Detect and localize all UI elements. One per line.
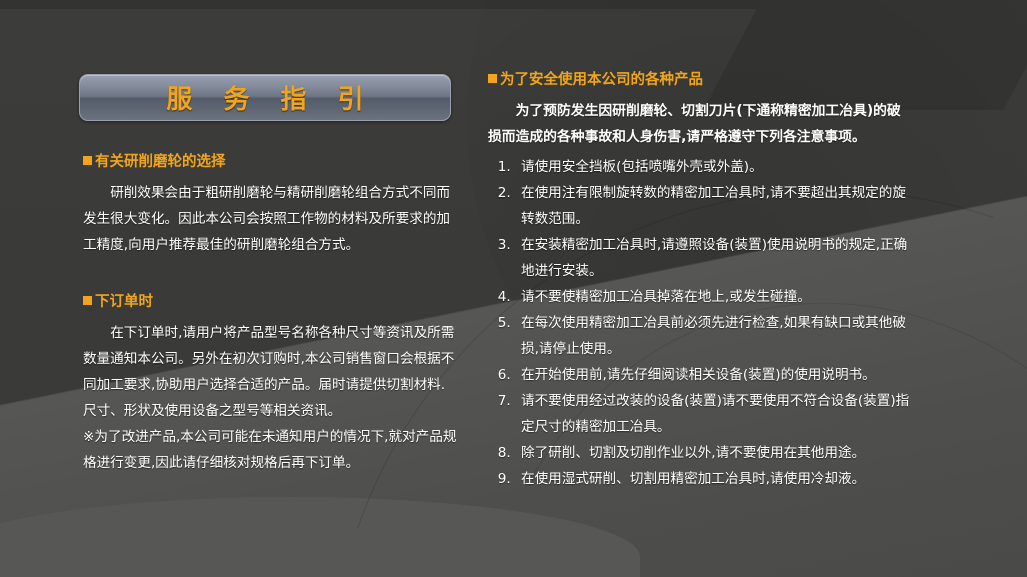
title-plate: 服 务 指 引 [79,74,451,121]
safety-section-heading: 为了安全使用本公司的各种产品 [488,70,913,92]
section-placing-order: 下订单时 在下订单时,请用户将产品型号名称各种尺寸等资讯及所需数量通知本公司。另… [83,292,458,476]
safety-precautions-list: 请使用安全挡板(包括喷嘴外壳或外盖)。 在使用注有限制旋转数的精密加工冶具时,请… [488,154,913,492]
list-item: 在使用湿式研削、切割用精密加工冶具时,请使用冷却液。 [515,466,913,492]
square-bullet-icon [83,296,92,305]
safety-intro-paragraph: 为了预防发生因研削磨轮、切割刀片(下通称精密加工冶具)的破损而造成的各种事故和人… [488,98,913,150]
list-item: 请不要使用经过改装的设备(装置)请不要使用不符合设备(装置)指定尺寸的精密加工冶… [515,388,913,440]
section-grinding-wheel-selection: 有关研削磨轮的选择 研削效果会由于粗研削磨轮与精研削磨轮组合方式不同而发生很大变… [83,152,458,258]
section-heading: 有关研削磨轮的选择 [83,152,458,174]
list-item: 在安装精密加工冶具时,请遵照设备(装置)使用说明书的规定,正确地进行安装。 [515,232,913,284]
slide-canvas: 服 务 指 引 有关研削磨轮的选择 研削效果会由于粗研削磨轮与精研削磨轮组合方式… [0,0,1027,577]
list-item: 在每次使用精密加工冶具前必须先进行检查,如果有缺口或其他破损,请停止使用。 [515,310,913,362]
square-bullet-icon [83,156,92,165]
square-bullet-icon [488,74,497,83]
list-item: 在开始使用前,请先仔细阅读相关设备(装置)的使用说明书。 [515,362,913,388]
right-column: 为了安全使用本公司的各种产品 为了预防发生因研削磨轮、切割刀片(下通称精密加工冶… [488,70,913,492]
list-item: 除了研削、切割及切削作业以外,请不要使用在其他用途。 [515,440,913,466]
page-title: 服 务 指 引 [155,79,374,116]
list-item: 请使用安全挡板(包括喷嘴外壳或外盖)。 [515,154,913,180]
slide-content: 服 务 指 引 有关研削磨轮的选择 研削效果会由于粗研削磨轮与精研削磨轮组合方式… [0,0,1027,577]
list-item: 在使用注有限制旋转数的精密加工冶具时,请不要超出其规定的旋转数范围。 [515,180,913,232]
section-spacer [83,258,458,292]
section-heading-label: 有关研削磨轮的选择 [95,154,226,170]
section-paragraph: 在下订单时,请用户将产品型号名称各种尺寸等资讯及所需数量通知本公司。另外在初次订… [83,320,458,424]
section-heading-label: 下订单时 [95,294,153,310]
safety-section-heading-label: 为了安全使用本公司的各种产品 [500,72,703,88]
section-note: ※为了改进产品,本公司可能在未通知用户的情况下,就对产品规格进行变更,因此请仔细… [83,424,458,476]
left-column: 有关研削磨轮的选择 研削效果会由于粗研削磨轮与精研削磨轮组合方式不同而发生很大变… [83,152,458,476]
section-paragraph: 研削效果会由于粗研削磨轮与精研削磨轮组合方式不同而发生很大变化。因此本公司会按照… [83,180,458,258]
list-item: 请不要使精密加工冶具掉落在地上,或发生碰撞。 [515,284,913,310]
section-heading: 下订单时 [83,292,458,314]
